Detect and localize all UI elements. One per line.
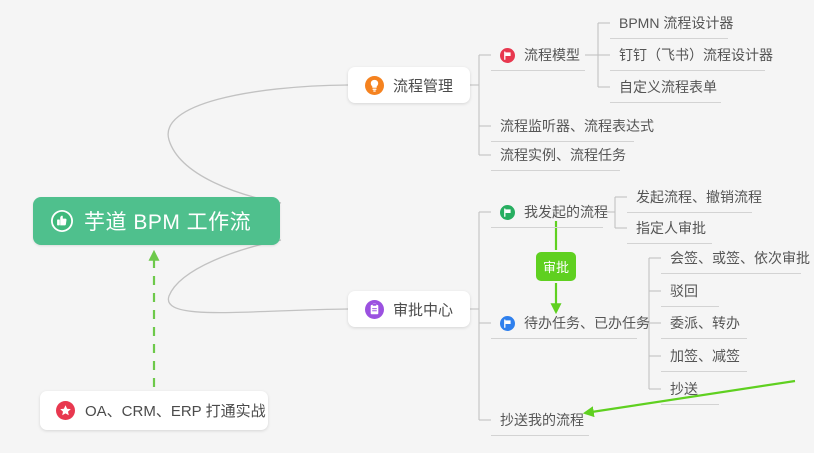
node-label-add-remove-sign: 加签、减签: [670, 346, 740, 366]
node-label-delegate-transfer: 委派、转办: [670, 313, 740, 333]
wire-root-to-process-management: [168, 85, 348, 203]
node-label-countersign-or-sequential: 会签、或签、依次审批: [670, 248, 810, 268]
callout-node-oa-crm-erp[interactable]: OA、CRM、ERP 打通实战: [40, 391, 268, 430]
node-label-my-initiated-process: 我发起的流程: [524, 202, 608, 222]
callout-label-oa-crm-erp: OA、CRM、ERP 打通实战: [85, 400, 266, 421]
node-custom-process-form[interactable]: 自定义流程表单: [610, 72, 721, 103]
lightbulb-icon: [365, 76, 384, 95]
node-label-process-instance-task: 流程实例、流程任务: [500, 145, 626, 165]
node-todo-done-tasks[interactable]: 待办任务、已办任务: [491, 308, 637, 339]
mindmap-canvas: 芋道 BPM 工作流 流程管理 流程模型 BPMN 流程设计器 钉钉（飞书: [0, 0, 814, 453]
root-node[interactable]: 芋道 BPM 工作流: [33, 197, 280, 245]
node-cc-to-me-process[interactable]: 抄送我的流程: [491, 405, 589, 436]
node-label-todo-done-tasks: 待办任务、已办任务: [524, 313, 650, 333]
node-start-cancel-process[interactable]: 发起流程、撤销流程: [627, 182, 752, 213]
node-countersign-or-sequential[interactable]: 会签、或签、依次审批: [661, 243, 801, 274]
node-dingtalk-feishu-designer[interactable]: 钉钉（飞书）流程设计器: [610, 40, 765, 71]
branch-node-approval-center[interactable]: 审批中心: [348, 291, 470, 327]
node-process-instance-task[interactable]: 流程实例、流程任务: [491, 140, 620, 171]
node-label-assignee-approval: 指定人审批: [636, 218, 706, 238]
node-label-cc-to-me-process: 抄送我的流程: [500, 410, 584, 430]
approval-badge-label: 审批: [543, 257, 569, 276]
node-my-initiated-process[interactable]: 我发起的流程: [491, 197, 603, 228]
flag-icon: [500, 316, 515, 331]
node-assignee-approval[interactable]: 指定人审批: [627, 213, 712, 244]
node-process-listener-expression[interactable]: 流程监听器、流程表达式: [491, 111, 634, 142]
node-label-reject: 驳回: [670, 281, 698, 301]
node-label-cc: 抄送: [670, 379, 698, 399]
node-label-start-cancel-process: 发起流程、撤销流程: [636, 187, 762, 207]
node-label-process-model: 流程模型: [524, 45, 580, 65]
node-delegate-transfer[interactable]: 委派、转办: [661, 308, 747, 339]
root-label: 芋道 BPM 工作流: [84, 206, 251, 236]
branch-label-approval-center: 审批中心: [393, 299, 453, 320]
node-add-remove-sign[interactable]: 加签、减签: [661, 341, 747, 372]
node-bpmn-designer[interactable]: BPMN 流程设计器: [610, 8, 728, 39]
star-icon: [56, 401, 75, 420]
branch-node-process-management[interactable]: 流程管理: [348, 67, 470, 103]
approval-badge[interactable]: 审批: [536, 252, 576, 281]
wire-root-to-approval-center: [168, 240, 348, 313]
node-label-bpmn-designer: BPMN 流程设计器: [619, 13, 733, 33]
node-label-dingtalk-feishu-designer: 钉钉（飞书）流程设计器: [619, 45, 773, 65]
node-cc[interactable]: 抄送: [661, 374, 719, 405]
node-label-custom-process-form: 自定义流程表单: [619, 77, 717, 97]
branch-label-process-management: 流程管理: [393, 75, 453, 96]
clipboard-icon: [365, 300, 384, 319]
node-label-process-listener-expression: 流程监听器、流程表达式: [500, 116, 654, 136]
flag-icon: [500, 205, 515, 220]
flag-icon: [500, 48, 515, 63]
thumbs-up-icon: [51, 210, 73, 232]
node-reject[interactable]: 驳回: [661, 276, 719, 307]
node-process-model[interactable]: 流程模型: [491, 40, 585, 71]
